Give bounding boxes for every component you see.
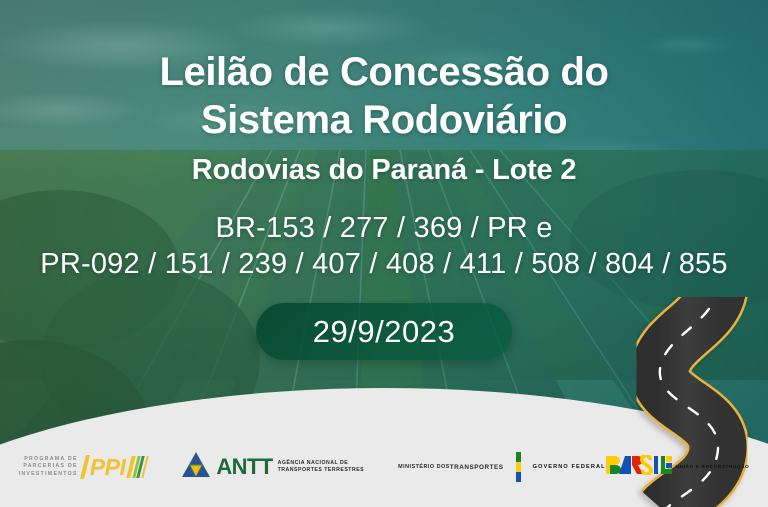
route-line-1: BR-153 / 277 / 369 / PR e — [215, 212, 552, 244]
auction-date-badge: 29/9/2023 — [256, 303, 512, 360]
antt-triangle-icon — [181, 451, 211, 483]
page-subtitle: Rodovias do Paraná - Lote 2 — [0, 152, 768, 188]
ppi-line-2: Parcerias de — [19, 463, 78, 471]
logo-bar: Programa de Parcerias de Investimentos P… — [0, 443, 768, 491]
ppi-mark: PPI — [83, 454, 148, 481]
antt-acronym: ANTT — [216, 454, 272, 480]
route-line-2: PR-092 / 151 / 239 / 407 / 408 / 411 / 5… — [0, 246, 768, 282]
ppi-acronym: PPI — [90, 454, 126, 481]
ppi-flag-icon — [129, 456, 147, 478]
ministerio-transportes-logo: Ministério dos Transportes — [398, 463, 503, 472]
title-line-1: Leilão de Concessão do — [0, 48, 768, 96]
ppi-wordmark: Programa de Parcerias de Investimentos — [19, 456, 78, 479]
auction-date: 29/9/2023 — [313, 316, 455, 347]
governo-federal-logo: Governo Federal Uni — [533, 455, 750, 480]
governo-top-label: Governo Federal — [533, 463, 606, 471]
ppi-line-1: Programa de — [19, 456, 78, 464]
ppi-line-3: Investimentos — [19, 471, 78, 479]
auction-banner: Leilão de Concessão do Sistema Rodoviári… — [0, 0, 768, 507]
governo-bottom-label: União e Reconstrução — [676, 463, 750, 471]
flag-divider-icon — [516, 452, 521, 482]
antt-line-2: Transportes Terrestres — [278, 467, 365, 474]
banner-content: Leilão de Concessão do Sistema Rodoviári… — [0, 0, 768, 507]
brasil-wordmark-icon — [606, 455, 676, 480]
antt-logo: ANTT Agência Nacional de Transportes Ter… — [181, 451, 364, 483]
ppi-slash-icon — [80, 455, 90, 479]
brasil-wordmark-svg — [606, 455, 676, 475]
antt-triangle-svg — [181, 451, 211, 478]
page-title: Leilão de Concessão do Sistema Rodoviári… — [0, 48, 768, 144]
ministerio-line-2: Transportes — [450, 463, 504, 472]
ppi-logo: Programa de Parcerias de Investimentos P… — [19, 454, 148, 481]
title-line-2: Sistema Rodoviário — [0, 96, 768, 144]
route-list: BR-153 / 277 / 369 / PR e PR-092 / 151 /… — [0, 210, 768, 282]
antt-wordmark: Agência Nacional de Transportes Terrestr… — [278, 460, 365, 475]
ministerio-line-1: Ministério dos — [398, 463, 450, 471]
antt-line-1: Agência Nacional de — [278, 460, 365, 467]
